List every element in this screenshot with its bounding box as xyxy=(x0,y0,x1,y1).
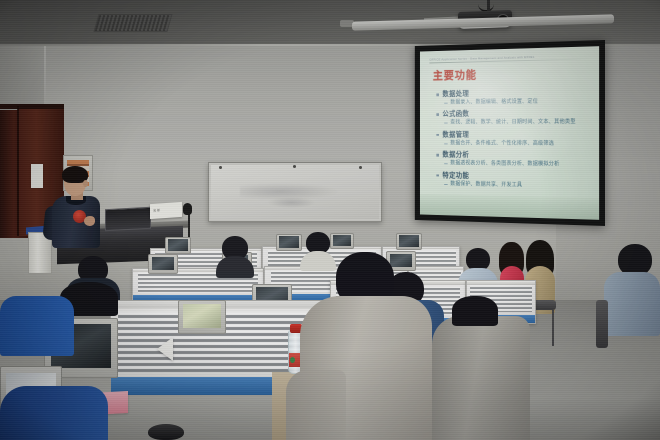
slide-section: 数据处理 数据录入、数据编辑、格式设置、定位 xyxy=(436,87,590,106)
posted-notice-paper xyxy=(31,164,43,188)
chair-leg xyxy=(552,310,554,346)
projection-screen: OFFICE Application Series · Data Managem… xyxy=(415,40,605,226)
slide-section-detail: 数据透视表分析、各类图表分析、数据模拟分析 xyxy=(436,159,590,169)
student-monitor xyxy=(276,234,302,251)
cabinet-top-edge xyxy=(0,104,64,109)
monitor-screen xyxy=(333,235,351,246)
whiteboard xyxy=(208,162,382,222)
monitor-screen xyxy=(168,239,188,250)
slide-section-detail: 数据录入、数据编辑、格式设置、定位 xyxy=(436,97,590,107)
presenter-ear xyxy=(83,180,88,187)
student-torso xyxy=(0,386,108,440)
student-torso xyxy=(0,296,74,356)
monitor-screen xyxy=(390,254,413,268)
student-monitor xyxy=(148,254,178,274)
student-arm xyxy=(286,370,346,440)
slide-section: 数据管理 数据合并、条件格式、个性化排序、高级筛选 xyxy=(436,130,590,148)
slide-section: 数据分析 数据透视表分析、各类图表分析、数据模拟分析 xyxy=(436,150,590,169)
bottle-label-mark xyxy=(290,357,295,363)
slide-section-detail: 数据保护、数据共享、开发工具 xyxy=(436,180,590,191)
person-torso xyxy=(604,272,660,336)
folding-chair xyxy=(596,300,608,348)
slide-section-detail: 查找、逻辑、数学、统计、日期时间、文本、其他类型 xyxy=(436,118,590,127)
whiteboard-screw xyxy=(293,165,296,168)
monitor-screen xyxy=(183,304,221,328)
microphone xyxy=(183,203,192,215)
cabinet-door-seam xyxy=(17,106,19,236)
monitor-screen xyxy=(152,257,175,271)
student-monitor xyxy=(396,233,422,250)
monitor-screen xyxy=(279,236,299,247)
screen-bottom-shadow xyxy=(420,194,599,220)
podium-paper-text: 名单 xyxy=(153,207,160,213)
podium-monitor xyxy=(105,207,151,231)
foreground-monitor-lit xyxy=(178,300,226,334)
slide-section-detail: 数据合并、条件格式、个性化排序、高级筛选 xyxy=(436,139,590,148)
mouse[interactable] xyxy=(148,424,184,440)
monitor-screen xyxy=(399,235,419,246)
slide-section: 公式函数 查找、逻辑、数学、统计、日期时间、文本、其他类型 xyxy=(436,109,590,127)
whiteboard-erased-marks xyxy=(267,197,315,209)
student-monitor xyxy=(165,237,191,254)
student-head xyxy=(452,296,498,326)
student-torso xyxy=(216,256,254,278)
partition-top-edge xyxy=(467,281,535,285)
folded-paper xyxy=(157,337,173,361)
whiteboard-screw xyxy=(219,166,222,169)
student-monitor xyxy=(330,233,354,249)
podium-paper: 名单 xyxy=(150,202,182,219)
presenter-hand xyxy=(84,216,95,226)
whiteboard-screw xyxy=(359,166,362,169)
slide-title: 主要功能 xyxy=(433,64,591,83)
student-torso xyxy=(432,316,530,440)
projection-screen-surface: OFFICE Application Series · Data Managem… xyxy=(420,46,599,220)
slide-section: 特定功能 数据保护、数据共享、开发工具 xyxy=(436,171,590,191)
classroom-photo: OFFICE Application Series · Data Managem… xyxy=(0,0,660,440)
ceiling-vent xyxy=(93,14,172,32)
slide-section-heading: 数据管理 xyxy=(436,130,590,140)
